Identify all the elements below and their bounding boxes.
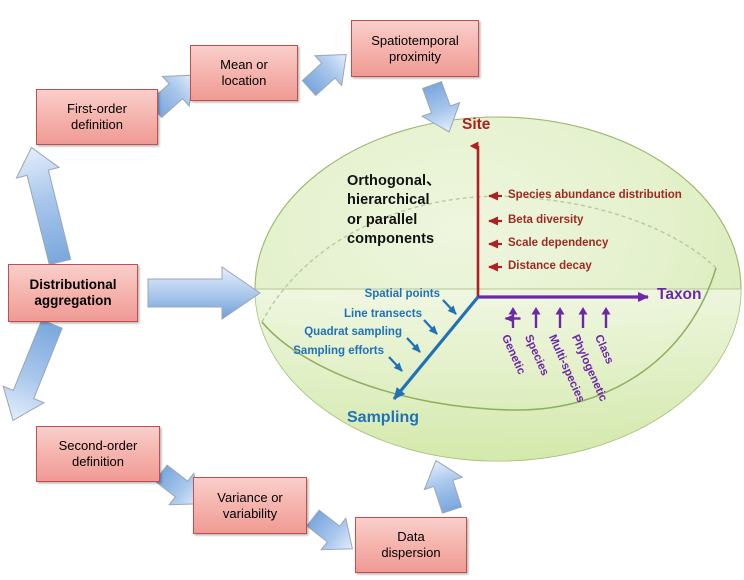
orthogonal-components-caption: Orthogonal、 hierarchical or parallel com… bbox=[347, 172, 441, 250]
box-first-order-line2: definition bbox=[71, 117, 123, 132]
sampling-item-sampling-efforts: Sampling efforts bbox=[194, 345, 384, 357]
box-data-dispersion-line1: Data bbox=[397, 529, 424, 544]
box-variance-or-variability[interactable]: Variance or variability bbox=[193, 477, 307, 534]
box-variance-line2: variability bbox=[223, 506, 277, 521]
site-item-scale-dependency: Scale dependency bbox=[508, 237, 608, 249]
box-mean-line1: Mean or bbox=[220, 57, 268, 72]
box-first-order-text: First-order definition bbox=[67, 101, 127, 133]
box-spatiotemporal-text: Spatiotemporal proximity bbox=[371, 33, 458, 65]
box-data-dispersion[interactable]: Data dispersion bbox=[355, 517, 467, 573]
diagram-canvas: First-order definition Mean or location … bbox=[0, 0, 744, 580]
components-line2: hierarchical bbox=[347, 191, 441, 210]
axis-label-site: Site bbox=[462, 116, 490, 134]
box-second-order-line1: Second-order bbox=[59, 438, 138, 453]
box-distributional-line2: aggregation bbox=[34, 293, 111, 308]
box-variance-line1: Variance or bbox=[217, 490, 283, 505]
box-spatiotemporal-line2: proximity bbox=[389, 49, 441, 64]
axis-label-taxon: Taxon bbox=[657, 286, 702, 304]
box-mean-text: Mean or location bbox=[220, 57, 268, 89]
site-tick-arrows bbox=[489, 196, 502, 267]
box-mean-or-location[interactable]: Mean or location bbox=[190, 45, 298, 101]
components-line4: components bbox=[347, 230, 441, 249]
site-item-beta-diversity: Beta diversity bbox=[508, 214, 583, 226]
site-item-species-abundance-distribution: Species abundance distribution bbox=[508, 189, 682, 201]
sampling-item-spatial-points: Spatial points bbox=[250, 288, 440, 300]
box-second-order-line2: definition bbox=[72, 454, 124, 469]
box-distributional-aggregation[interactable]: Distributional aggregation bbox=[8, 264, 138, 322]
box-mean-line2: location bbox=[222, 73, 267, 88]
box-distributional-text: Distributional aggregation bbox=[30, 277, 117, 310]
site-item-distance-decay: Distance decay bbox=[508, 260, 592, 272]
box-data-dispersion-text: Data dispersion bbox=[381, 529, 440, 561]
sampling-item-line-transects: Line transects bbox=[232, 308, 422, 320]
box-distributional-line1: Distributional bbox=[30, 277, 117, 292]
box-variance-text: Variance or variability bbox=[217, 490, 283, 522]
components-line3: or parallel bbox=[347, 211, 441, 230]
box-spatiotemporal-line1: Spatiotemporal bbox=[371, 33, 458, 48]
box-second-order-definition[interactable]: Second-order definition bbox=[36, 426, 160, 482]
sampling-item-quadrat-sampling: Quadrat sampling bbox=[212, 326, 402, 338]
box-data-dispersion-line2: dispersion bbox=[381, 545, 440, 560]
box-second-order-text: Second-order definition bbox=[59, 438, 138, 470]
box-first-order-line1: First-order bbox=[67, 101, 127, 116]
box-first-order-definition[interactable]: First-order definition bbox=[36, 89, 158, 145]
taxon-tick-arrow-group bbox=[509, 307, 611, 328]
box-spatiotemporal-proximity[interactable]: Spatiotemporal proximity bbox=[351, 20, 479, 77]
components-line1: Orthogonal、 bbox=[347, 172, 441, 191]
axis-label-sampling: Sampling bbox=[347, 409, 419, 427]
